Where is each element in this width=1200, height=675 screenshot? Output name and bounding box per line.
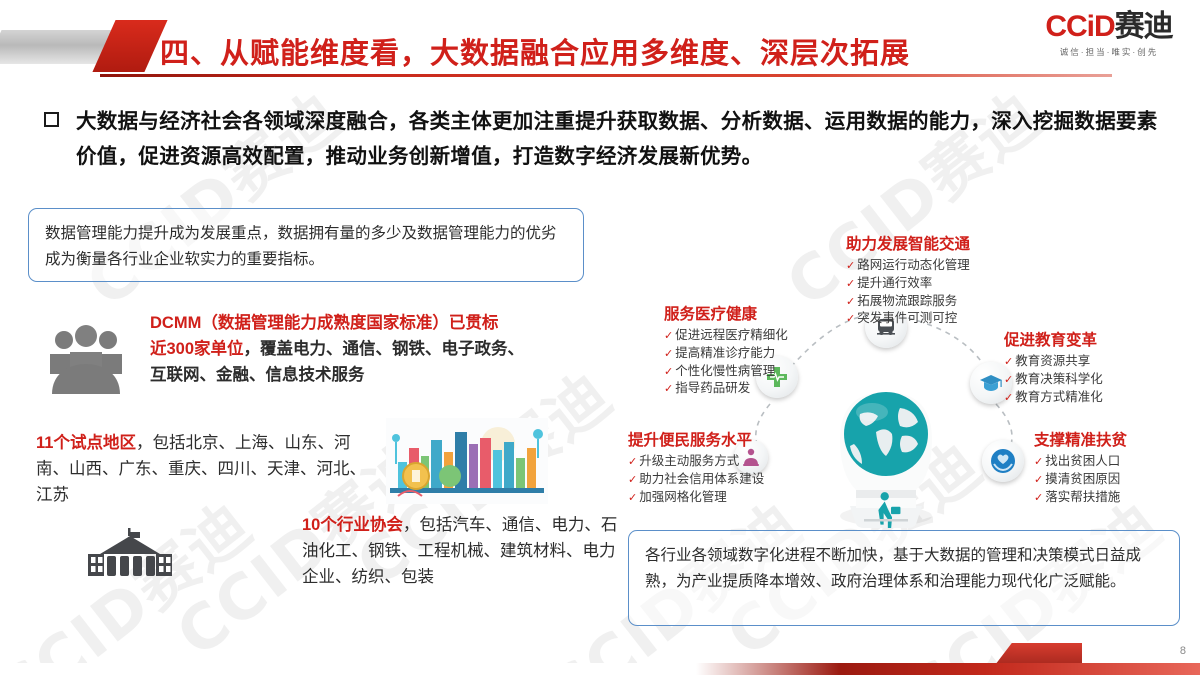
assoc-highlight: 10个行业协会	[302, 516, 403, 534]
logo-ccid-text: CCiD	[1045, 10, 1114, 43]
dcmm-line-2: 近300家单位，覆盖电力、通信、钢铁、电子政务、	[150, 336, 570, 362]
list-item: 拓展物流跟踪服务	[846, 293, 970, 311]
header-red-shape	[92, 20, 167, 72]
list-item: 突发事件可测可控	[846, 310, 970, 328]
topic-public-service: 提升便民服务水平 升级主动服务方式 助力社会信用体系建设 加强网格化管理	[628, 428, 764, 506]
list-item: 找出贫困人口	[1034, 453, 1127, 471]
page-number: 8	[1180, 645, 1186, 657]
topic-public-service-title: 提升便民服务水平	[628, 428, 764, 450]
list-item: 教育方式精准化	[1004, 389, 1103, 407]
topic-education-list: 教育资源共享 教育决策科学化 教育方式精准化	[1004, 353, 1103, 406]
main-bullet-text: 大数据与经济社会各领域深度融合，各类主体更加注重提升获取数据、分析数据、运用数据…	[76, 104, 1170, 175]
page-title: 四、从赋能维度看，大数据融合应用多维度、深层次拓展	[160, 30, 1010, 72]
list-item: 助力社会信用体系建设	[628, 471, 764, 489]
logo-tagline: 诚信·担当·唯实·创先	[1024, 46, 1194, 58]
footer-bar	[0, 663, 1200, 675]
topic-poverty-title: 支撑精准扶贫	[1034, 428, 1127, 450]
topic-health: 服务医疗健康 促进远程医疗精细化 提高精准诊疗能力 个性化慢性病管理 指导药品研…	[664, 302, 788, 398]
logo-chinese-text: 赛迪	[1115, 10, 1173, 43]
slide-header: 四、从赋能维度看，大数据融合应用多维度、深层次拓展	[0, 14, 1200, 76]
topic-traffic-title: 助力发展智能交通	[846, 232, 970, 254]
list-item: 提高精准诊疗能力	[664, 345, 788, 363]
list-item: 升级主动服务方式	[628, 453, 764, 471]
header-rule	[100, 74, 1112, 77]
list-item: 指导药品研发	[664, 380, 788, 398]
list-item: 摸清贫困原因	[1034, 471, 1127, 489]
list-item: 促进远程医疗精细化	[664, 327, 788, 345]
topic-health-list: 促进远程医疗精细化 提高精准诊疗能力 个性化慢性病管理 指导药品研发	[664, 327, 788, 398]
topic-poverty-alleviation: 支撑精准扶贫 找出贫困人口 摸清贫困原因 落实帮扶措施	[1034, 428, 1127, 506]
bullet-square-icon	[44, 112, 59, 127]
pilot-highlight: 11个试点地区	[36, 434, 136, 452]
topic-traffic-list: 路网运行动态化管理 提升通行效率 拓展物流跟踪服务 突发事件可测可控	[846, 257, 970, 328]
callout-box-bottom: 各行业各领域数字化进程不断加快，基于大数据的管理和决策模式日益成熟，为产业提质降…	[628, 530, 1180, 626]
logo-wordmark: CCiD赛迪	[1024, 12, 1194, 42]
list-item: 路网运行动态化管理	[846, 257, 970, 275]
helping-hands-icon	[982, 440, 1024, 482]
list-item: 加强网格化管理	[628, 489, 764, 507]
dcmm-line-1: DCMM（数据管理能力成熟度国家标准）已贯标	[150, 310, 570, 336]
main-bullet: 大数据与经济社会各领域深度融合，各类主体更加注重提升获取数据、分析数据、运用数据…	[44, 104, 1170, 175]
ccid-logo: CCiD赛迪 诚信·担当·唯实·创先	[1024, 12, 1194, 58]
list-item: 落实帮扶措施	[1034, 489, 1127, 507]
info-industry-associations: 10个行业协会，包括汽车、通信、电力、石油化工、钢铁、工程机械、建筑材料、电力企…	[302, 512, 622, 590]
callout-top-text: 数据管理能力提升成为发展重点，数据拥有量的多少及数据管理能力的优劣成为衡量各行业…	[29, 209, 583, 282]
topic-traffic: 助力发展智能交通 路网运行动态化管理 提升通行效率 拓展物流跟踪服务 突发事件可…	[846, 232, 970, 328]
slide-root: CCID赛迪 CCID赛迪 CCID赛迪 CCID赛迪 CCID赛迪 CCID赛…	[0, 0, 1200, 675]
dcmm-highlight: 近300家单位	[150, 340, 244, 358]
list-item: 提升通行效率	[846, 275, 970, 293]
government-building-icon	[84, 528, 176, 583]
dcmm-line-2-rest: ，覆盖电力、通信、钢铁、电子政务、	[244, 340, 525, 358]
topic-education-title: 促进教育变革	[1004, 328, 1103, 350]
list-item: 教育决策科学化	[1004, 371, 1103, 389]
topic-public-service-list: 升级主动服务方式 助力社会信用体系建设 加强网格化管理	[628, 453, 764, 506]
people-group-icon	[38, 322, 134, 401]
lightbulb-globe-icon	[830, 378, 942, 528]
callout-box-top: 数据管理能力提升成为发展重点，数据拥有量的多少及数据管理能力的优劣成为衡量各行业…	[28, 208, 584, 282]
list-item: 个性化慢性病管理	[664, 363, 788, 381]
dcmm-line-3: 互联网、金融、信息技术服务	[150, 362, 570, 388]
info-pilot-regions: 11个试点地区，包括北京、上海、山东、河南、山西、广东、重庆、四川、天津、河北、…	[36, 430, 366, 508]
list-item: 教育资源共享	[1004, 353, 1103, 371]
smart-city-illustration	[386, 418, 548, 509]
callout-bottom-text: 各行业各领域数字化进程不断加快，基于大数据的管理和决策模式日益成熟，为产业提质降…	[629, 531, 1179, 604]
info-dcmm: DCMM（数据管理能力成熟度国家标准）已贯标 近300家单位，覆盖电力、通信、钢…	[150, 310, 570, 388]
topic-poverty-list: 找出贫困人口 摸清贫困原因 落实帮扶措施	[1034, 453, 1127, 506]
topic-health-title: 服务医疗健康	[664, 302, 788, 324]
topic-education: 促进教育变革 教育资源共享 教育决策科学化 教育方式精准化	[1004, 328, 1103, 406]
